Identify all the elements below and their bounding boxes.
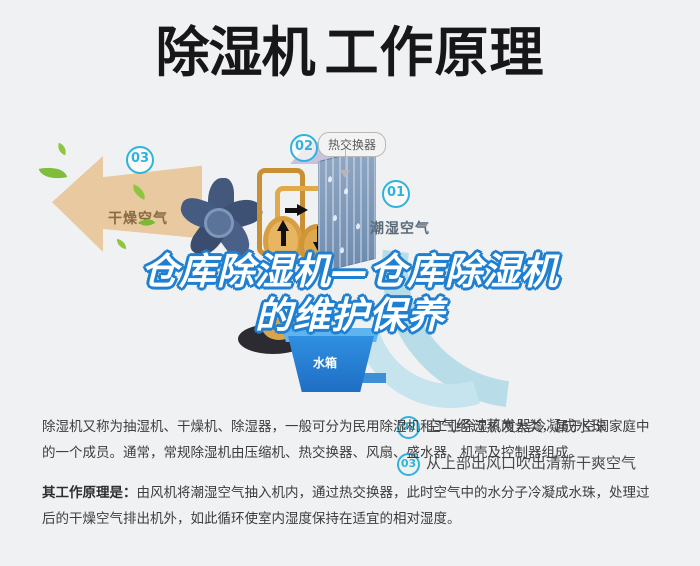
dry-air-label: 干燥空气 [108,208,168,228]
paragraph-1: 除湿机又称为抽湿机、干燥机、除湿器，一般可分为民用除湿机和工业除湿机两大类，属于… [42,414,662,466]
body-copy: 除湿机又称为抽湿机、干燥机、除湿器，一般可分为民用除湿机和工业除湿机两大类，属于… [42,414,662,546]
fan-icon [168,172,264,268]
water-tank-label: 水箱 [313,354,337,371]
flow-arrow-shaft [281,230,286,246]
badge-01: 01 [382,180,410,208]
leaf-icon [115,239,128,250]
fan-hub [204,208,234,238]
leaf-icon [56,143,69,156]
title-part-1: 除湿机 [156,21,315,84]
page-title: 除湿机工作原理 [0,22,700,84]
callout-stem [345,148,346,172]
dehumidifier-diagram: 干燥空气 [0,118,700,408]
badge-02: 02 [290,134,318,162]
badge-03: 03 [126,146,154,174]
title-part-2: 工作原理 [325,21,545,84]
paragraph-2: 其工作原理是：由风机将潮湿空气抽入机内，通过热交换器，此时空气中的水分子冷凝成水… [42,480,662,532]
heat-exchanger-callout: 热交换器 [318,132,386,157]
callout-tip-icon [340,170,350,178]
evaporator-block [318,147,376,273]
paragraph-2-lead: 其工作原理是： [42,485,137,501]
flow-arrow-shaft [285,208,299,213]
humid-air-label: 潮湿空气 [370,218,430,238]
page-root: 除湿机工作原理 干燥空气 [0,0,700,566]
evaporator-fins [318,147,376,273]
leaf-icon [39,163,67,182]
